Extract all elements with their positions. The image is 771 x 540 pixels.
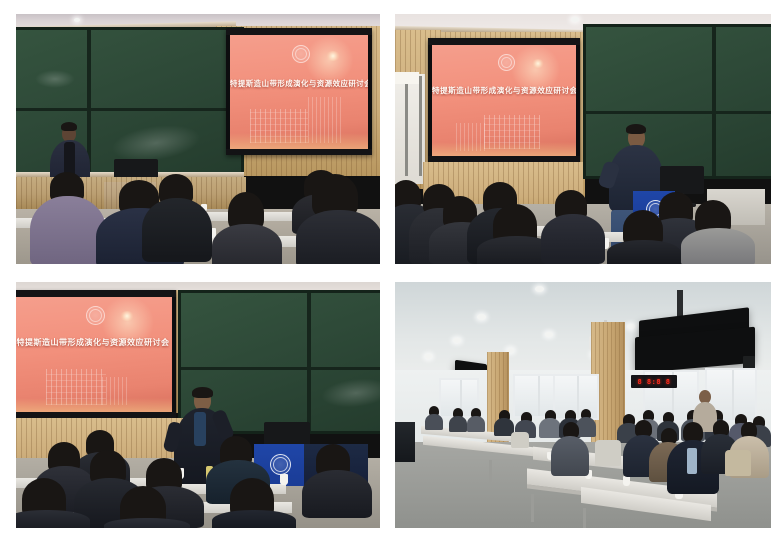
audience-body [212, 224, 282, 264]
audience-body [681, 228, 755, 264]
screen-case [16, 290, 176, 297]
audience-body [541, 214, 605, 264]
speaker-hair [626, 124, 646, 134]
audience-body [467, 416, 485, 432]
paper-cup [280, 474, 288, 485]
screen-bottom-bar [226, 149, 372, 155]
conference-hall-scene: 8 8:8 8 [395, 282, 771, 528]
led-clock-text: 8 8:8 8 [637, 378, 670, 386]
audience-body [212, 510, 296, 528]
audience-body [449, 416, 467, 432]
slide-title: 特提斯造山带形成演化与资源效应研讨会 [230, 78, 368, 89]
ceiling-light [453, 338, 461, 343]
lecture-room-scene-3: 特提斯造山带形成演化与资源效应研讨会 [16, 282, 380, 528]
window [553, 374, 599, 420]
ceiling-light [477, 314, 486, 320]
audience-body [551, 436, 589, 476]
slide-glow [432, 142, 576, 156]
slide-content: 特提斯造山带形成演化与资源效应研讨会 [16, 297, 172, 412]
slide-title: 特提斯造山带形成演化与资源效应研讨会 [432, 85, 576, 96]
projection-screen-frame: 特提斯造山带形成演化与资源效应研讨会 [428, 38, 580, 162]
lecture-room-scene-2: 特提斯造山带形成演化与资源效应研讨会 [395, 14, 771, 264]
lens-flare [532, 59, 544, 68]
audience-body [296, 210, 380, 264]
audience-body [104, 518, 190, 528]
chair [595, 440, 621, 466]
window-mullion [538, 376, 540, 416]
ceiling-light-panel [395, 72, 419, 84]
lecture-room-scene-1: 特提斯造山带形成演化与资源效应研讨会 [16, 14, 380, 264]
slide-glow [230, 133, 368, 149]
panel-top-right: 特提斯造山带形成演化与资源效应研讨会 [395, 14, 771, 264]
slide-glow [16, 398, 172, 412]
panel-bottom-right: 8 8:8 8 [395, 282, 771, 528]
speaker-sweater [194, 412, 206, 446]
audience-body [142, 198, 212, 262]
chair [511, 432, 529, 448]
desk-leg [583, 508, 586, 528]
chalk-smudge [320, 375, 380, 410]
led-clock: 8 8:8 8 [631, 375, 677, 388]
chalk-smudge [35, 70, 75, 88]
ceiling-light [74, 18, 80, 22]
ceiling-light [627, 324, 635, 329]
lectern [395, 422, 415, 462]
screen-case [428, 38, 580, 45]
chalkboard [16, 27, 244, 175]
slide-content: 特提斯造山带形成演化与资源效应研讨会 [432, 45, 576, 156]
audience-body [425, 414, 443, 430]
ceiling-light [425, 354, 432, 359]
audience-shirt [687, 448, 697, 474]
chalkboard-seam [16, 108, 241, 111]
chalkboard-seam [586, 111, 771, 114]
audience-head-front [683, 422, 703, 442]
university-seal-icon [292, 45, 310, 63]
screen-case [226, 28, 372, 35]
desk-leg [489, 460, 492, 482]
speaker-hair [192, 387, 213, 398]
projection-screen-frame: 特提斯造山带形成演化与资源效应研讨会 [16, 290, 176, 418]
university-seal-icon [86, 306, 105, 325]
panel-bottom-left: 特提斯造山带形成演化与资源效应研讨会 [16, 282, 380, 528]
chalkboard-seam [87, 30, 91, 172]
photo-collage-page: 特提斯造山带形成演化与资源效应研讨会 [0, 0, 771, 540]
speaker-hair [61, 122, 77, 131]
lens-flare [120, 311, 134, 321]
chalkboard-seam [307, 293, 311, 431]
audience-body [576, 417, 596, 437]
university-seal-icon [498, 54, 515, 71]
ceiling-light [545, 332, 553, 337]
chalkboard-seam [181, 367, 380, 370]
window-mullion [732, 370, 734, 420]
projection-screen-frame: 特提斯造山带形成演化与资源效应研讨会 [226, 28, 372, 155]
lens-flare [326, 51, 340, 61]
chair [725, 450, 751, 476]
panel-top-left: 特提斯造山带形成演化与资源效应研讨会 [16, 14, 380, 264]
slide-content: 特提斯造山带形成演化与资源效应研讨会 [230, 35, 368, 149]
door-frame [405, 76, 408, 176]
chalkboard [583, 24, 771, 179]
monitor [660, 166, 704, 194]
audience-body [16, 510, 90, 528]
slide-title: 特提斯造山带形成演化与资源效应研讨会 [16, 337, 172, 348]
ceiling-light [535, 286, 544, 292]
podium-emblem-icon [270, 454, 291, 475]
audience-body [607, 240, 681, 264]
ceiling-light [571, 17, 579, 22]
paper-cup [623, 476, 630, 486]
desk-leg [531, 494, 534, 522]
audience-body [302, 470, 372, 518]
door-frame [419, 76, 422, 176]
audience-body [30, 196, 106, 264]
audience-body [539, 418, 561, 438]
window-mullion [577, 376, 579, 418]
chalkboard-seam [712, 27, 716, 176]
